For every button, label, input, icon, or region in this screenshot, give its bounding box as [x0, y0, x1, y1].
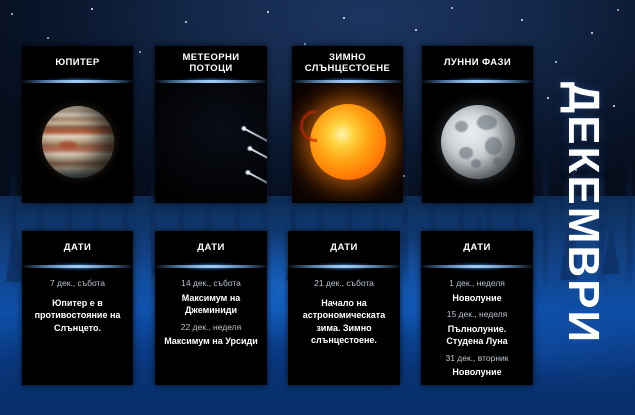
event-card-meteor-showers[interactable]: МЕТЕОРНИ ПОТОЦИ: [155, 46, 267, 203]
date-card-body: 1 дек., неделя Новолуние 15 дек., неделя…: [421, 268, 533, 389]
event-card-title-line1: МЕТЕОРНИ: [182, 52, 239, 64]
date-card-body: 21 дек., събота Начало на астрономическа…: [288, 268, 400, 357]
date-card-header: ДАТИ: [421, 231, 533, 265]
meteor-shower-image: [155, 83, 267, 201]
date-entry-desc: Начало на астрономическата зима. Зимно с…: [295, 296, 393, 349]
event-card-winter-solstice[interactable]: ЗИМНО СЛЪНЦЕСТОЕНЕ: [292, 46, 403, 203]
date-entry-desc: Юпитер е в противостояние на Слънцето.: [29, 296, 126, 337]
glow-divider: [22, 265, 133, 268]
event-card-title-line2: ПОТОЦИ: [182, 63, 239, 75]
date-card-title: ДАТИ: [330, 242, 357, 254]
date-card-header: ДАТИ: [22, 231, 133, 265]
event-card-header: МЕТЕОРНИ ПОТОЦИ: [155, 46, 267, 80]
date-entry-date: 1 дек., неделя: [428, 275, 526, 291]
date-entry-date: 15 дек., неделя: [428, 306, 526, 322]
date-card-meteor-showers[interactable]: ДАТИ 14 дек., събота Максимум на Джемини…: [155, 231, 267, 385]
date-entry-desc: Новолуние: [428, 365, 526, 381]
glow-divider: [421, 265, 533, 268]
date-card-moon-phases[interactable]: ДАТИ 1 дек., неделя Новолуние 15 дек., н…: [421, 231, 533, 385]
jupiter-planet-icon: [42, 106, 114, 178]
event-card-jupiter[interactable]: ЮПИТЕР: [22, 46, 133, 203]
date-card-header: ДАТИ: [288, 231, 400, 265]
month-title-text: ДЕКЕМВРИ: [558, 82, 608, 344]
event-card-title-line1: ЗИМНО: [305, 52, 391, 64]
date-card-jupiter[interactable]: ДАТИ 7 дек., събота Юпитер е в противост…: [22, 231, 133, 385]
event-card-title-line2: СЛЪНЦЕСТОЕНЕ: [305, 63, 391, 75]
event-card-header: ЮПИТЕР: [22, 46, 133, 80]
sun-image: [292, 83, 403, 201]
event-card-title: ЛУННИ ФАЗИ: [444, 57, 511, 69]
date-card-body: 14 дек., събота Максимум на Джеминиди 22…: [155, 268, 267, 358]
date-entry-desc: Максимум на Джеминиди: [162, 291, 260, 319]
date-card-body: 7 дек., събота Юпитер е в противостояние…: [22, 268, 133, 344]
date-entry-desc: Новолуние: [428, 291, 526, 307]
sun-star-icon: [310, 104, 386, 180]
date-card-winter-solstice[interactable]: ДАТИ 21 дек., събота Начало на астрономи…: [288, 231, 400, 385]
meteor-sky: [155, 83, 267, 201]
date-card-title: ДАТИ: [463, 242, 490, 254]
date-entry-date: 21 дек., събота: [295, 275, 393, 291]
month-title: ДЕКЕМВРИ: [536, 18, 630, 408]
date-entry-date: 7 дек., събота: [29, 275, 126, 291]
moon-image: [422, 83, 533, 201]
date-entry-date: 31 дек., вторник: [428, 350, 526, 366]
event-card-header: ЛУННИ ФАЗИ: [422, 46, 533, 80]
date-entry-desc: Пълнолуние. Студена Луна: [428, 322, 526, 350]
glow-divider: [288, 265, 400, 268]
event-card-title: ЮПИТЕР: [55, 57, 99, 69]
date-entry-date: 22 дек., неделя: [162, 319, 260, 335]
date-card-title: ДАТИ: [64, 242, 91, 254]
date-entry-date: 14 дек., събота: [162, 275, 260, 291]
date-entry-desc: Максимум на Урсиди: [162, 334, 260, 350]
full-moon-icon: [441, 105, 515, 179]
date-card-header: ДАТИ: [155, 231, 267, 265]
jupiter-image: [22, 83, 133, 201]
event-card-header: ЗИМНО СЛЪНЦЕСТОЕНЕ: [292, 46, 403, 80]
glow-divider: [155, 265, 267, 268]
event-card-moon-phases[interactable]: ЛУННИ ФАЗИ: [422, 46, 533, 203]
date-card-title: ДАТИ: [197, 242, 224, 254]
